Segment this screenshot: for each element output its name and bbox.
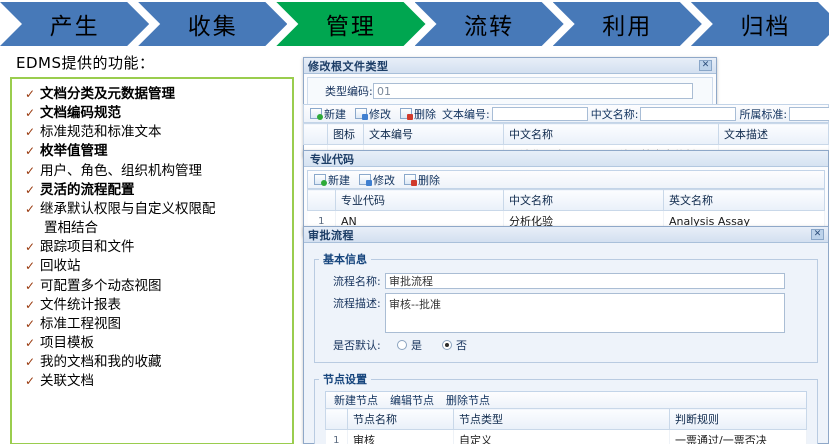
feature-item: ✓ 回收站	[16, 257, 288, 276]
col-text-no[interactable]: 文本编号	[364, 124, 504, 145]
feature-item: ✓ 标准工程视图	[16, 315, 288, 334]
process-desc-textarea[interactable]: 审核--批准	[385, 293, 785, 333]
feature-label: 文档分类及元数据管理	[40, 85, 288, 104]
feature-item: ✓ 跟踪项目和文件	[16, 238, 288, 257]
check-icon: ✓	[20, 257, 40, 276]
new-button-label: 新建	[328, 172, 350, 188]
new-node-button[interactable]: 新建节点	[334, 392, 378, 408]
edit-button-label: 修改	[373, 172, 395, 188]
feature-label: 我的文档和我的收藏	[40, 353, 288, 372]
radio-no[interactable]: 否	[442, 337, 467, 353]
edms-features-title: EDMS提供的功能：	[10, 52, 298, 73]
process-desc-row: 流程描述: 审核--批准	[319, 293, 813, 333]
major-code-header: 专业代码	[304, 151, 828, 167]
chevron-step-4-label: 流转	[464, 7, 514, 41]
process-chevron-bar: 产生 收集 管理 流转 利用 归档	[0, 2, 829, 46]
edms-feature-list: ✓ 文档分类及元数据管理 ✓ 文档编码规范 ✓ 标准规范和标准文本 ✓ 枚举值管…	[10, 77, 294, 444]
check-icon: ✓	[20, 142, 40, 161]
type-code-input[interactable]: 01	[373, 83, 693, 99]
row-number: 1	[326, 430, 348, 444]
feature-item: ✓ 标准规范和标准文本	[16, 123, 288, 142]
chevron-step-1-label: 产生	[50, 7, 100, 41]
cn-name-label: 中文名称:	[591, 106, 639, 122]
new-button[interactable]: 新建	[311, 172, 353, 188]
radio-no-label: 否	[456, 337, 467, 353]
col-rownum	[326, 409, 348, 430]
type-code-row: 类型编码: 01	[311, 83, 709, 99]
new-icon	[314, 174, 326, 185]
basic-info-legend: 基本信息	[319, 251, 371, 267]
feature-item: ✓ 用户、角色、组织机构管理	[16, 162, 288, 181]
col-node-rule[interactable]: 判断规则	[670, 409, 807, 430]
feature-label: 项目模板	[40, 334, 288, 353]
type-code-label: 类型编码:	[311, 83, 373, 99]
text-no-input[interactable]	[492, 107, 588, 121]
feature-item: ✓ 项目模板	[16, 334, 288, 353]
panel-major-code: 专业代码 新建 修改 删除	[303, 150, 829, 236]
basic-info-group: 基本信息 流程名称: 审批流程 流程描述: 审核--批准 是否默认: 是	[314, 251, 818, 363]
radio-yes-icon[interactable]	[397, 340, 407, 350]
chevron-step-5-label: 利用	[602, 7, 652, 41]
check-icon: ✓	[20, 104, 40, 123]
edit-icon	[355, 108, 367, 119]
chevron-step-2[interactable]: 收集	[138, 2, 287, 46]
check-icon: ✓	[20, 372, 40, 391]
close-icon[interactable]: ✕	[811, 229, 824, 240]
col-node-name[interactable]: 节点名称	[348, 409, 454, 430]
check-icon: ✓	[20, 353, 40, 372]
dialog-file-type-titlebar[interactable]: 修改根文件类型 ✕	[304, 58, 716, 74]
is-default-label: 是否默认:	[319, 337, 385, 353]
edit-button[interactable]: 修改	[356, 172, 398, 188]
dialog-file-type-body: 类型编码: 01	[304, 74, 716, 108]
cn-name-field: 中文名称:	[591, 106, 737, 122]
delete-icon	[400, 108, 412, 119]
feature-label: 跟踪项目和文件	[40, 238, 288, 257]
major-code-body: 新建 修改 删除 专业代码 中文名称 英文名称	[304, 167, 828, 235]
major-code-grid-header: 专业代码 中文名称 英文名称	[308, 190, 825, 211]
feature-label: 文件统计报表	[40, 296, 288, 315]
edit-node-button[interactable]: 编辑节点	[390, 392, 434, 408]
edit-button[interactable]: 修改	[352, 106, 394, 122]
process-name-row: 流程名称: 审批流程	[319, 273, 813, 289]
delete-node-button[interactable]: 删除节点	[446, 392, 490, 408]
feature-label: 标准工程视图	[40, 315, 288, 334]
delete-button-label: 删除	[414, 106, 436, 122]
is-default-row: 是否默认: 是 否	[319, 337, 813, 353]
radio-yes[interactable]: 是	[397, 337, 422, 353]
col-code[interactable]: 专业代码	[336, 190, 504, 211]
delete-icon	[404, 174, 416, 185]
dialog-file-type-title: 修改根文件类型	[308, 58, 699, 74]
chevron-step-6-label: 归档	[740, 7, 790, 41]
chevron-step-2-label: 收集	[188, 7, 238, 41]
major-code-title: 专业代码	[310, 151, 354, 167]
check-icon: ✓	[20, 315, 40, 334]
col-icon[interactable]: 图标	[328, 124, 364, 145]
close-icon[interactable]: ✕	[699, 60, 712, 71]
col-rownum	[304, 124, 328, 145]
col-rownum	[308, 190, 336, 211]
new-icon	[310, 108, 322, 119]
col-node-type[interactable]: 节点类型	[454, 409, 670, 430]
feature-label: 可配置多个动态视图	[40, 277, 288, 296]
dialog-approval-title: 审批流程	[308, 227, 811, 243]
file-type-grid-header: 图标 文本编号 中文名称 文本描述	[304, 124, 829, 145]
type-code-panel: 类型编码: 01	[307, 77, 713, 105]
edit-icon	[359, 174, 371, 185]
feature-label: 文档编码规范	[40, 104, 288, 123]
feature-label: 灵活的流程配置	[40, 181, 288, 200]
new-button[interactable]: 新建	[307, 106, 349, 122]
standard-field: 所属标准:	[739, 106, 829, 122]
col-cn-name[interactable]: 中文名称	[504, 190, 664, 211]
cell-node-name: 审核	[348, 430, 454, 444]
check-icon: ✓	[20, 334, 40, 353]
check-icon: ✓	[20, 238, 40, 257]
feature-item: ✓ 文档分类及元数据管理	[16, 85, 288, 104]
feature-item: ✓ 关联文档	[16, 372, 288, 391]
dialog-approval-process: 审批流程 ✕ 基本信息 流程名称: 审批流程 流程描述: 审核--批准 是否默认…	[303, 226, 829, 444]
node-settings-group: 节点设置 新建节点 编辑节点 删除节点 节点名称 节点类型	[314, 371, 818, 444]
standard-label: 所属标准:	[739, 106, 787, 122]
dialog-approval-titlebar[interactable]: 审批流程 ✕	[304, 227, 828, 243]
delete-button-label: 删除	[418, 172, 440, 188]
delete-button[interactable]: 删除	[397, 106, 439, 122]
table-row[interactable]: 1 审核 自定义 一票通过/一票否决	[326, 430, 807, 444]
dialog-approval-body: 基本信息 流程名称: 审批流程 流程描述: 审核--批准 是否默认: 是	[304, 243, 828, 443]
radio-no-icon[interactable]	[442, 340, 452, 350]
standard-input[interactable]	[789, 107, 829, 121]
text-no-field: 文本编号:	[442, 106, 588, 122]
node-settings-grid: 节点名称 节点类型 判断规则 1 审核 自定义 一票通过/一票否决	[325, 408, 807, 444]
col-cn-name[interactable]: 中文名称	[504, 124, 719, 145]
feature-label: 枚举值管理	[40, 142, 288, 161]
feature-item: ✓ 枚举值管理	[16, 142, 288, 161]
check-icon: ✓	[20, 123, 40, 142]
cell-node-type: 自定义	[454, 430, 670, 444]
node-toolbar: 新建节点 编辑节点 删除节点	[325, 391, 807, 408]
check-icon: ✓	[20, 296, 40, 315]
cell-node-rule: 一票通过/一票否决	[670, 430, 807, 444]
col-desc[interactable]: 文本描述	[719, 124, 829, 145]
cn-name-input[interactable]	[640, 107, 736, 121]
major-code-toolbar: 新建 修改 删除	[307, 170, 825, 189]
feature-label: 标准规范和标准文本	[40, 123, 288, 142]
check-icon: ✓	[20, 162, 40, 181]
feature-label: 关联文档	[40, 372, 288, 391]
feature-label-continuation: 置相结合	[16, 219, 288, 238]
process-name-label: 流程名称:	[319, 273, 385, 289]
delete-button[interactable]: 删除	[401, 172, 443, 188]
feature-item: ✓ 文件统计报表	[16, 296, 288, 315]
node-settings-content: 新建节点 编辑节点 删除节点 节点名称 节点类型 判断规则	[325, 391, 807, 444]
radio-yes-label: 是	[411, 337, 422, 353]
feature-label: 回收站	[40, 257, 288, 276]
new-button-label: 新建	[324, 106, 346, 122]
feature-item: ✓ 灵活的流程配置	[16, 181, 288, 200]
check-icon: ✓	[20, 181, 40, 200]
process-desc-label: 流程描述:	[319, 293, 385, 311]
chevron-step-3-label: 管理	[326, 7, 376, 41]
check-icon: ✓	[20, 200, 40, 219]
node-settings-legend: 节点设置	[319, 371, 371, 387]
check-icon: ✓	[20, 85, 40, 104]
chevron-step-6[interactable]: 归档	[691, 2, 829, 46]
col-en-name[interactable]: 英文名称	[664, 190, 825, 211]
chevron-step-5[interactable]: 利用	[553, 2, 702, 46]
feature-item: ✓ 我的文档和我的收藏	[16, 353, 288, 372]
feature-item: ✓ 可配置多个动态视图	[16, 277, 288, 296]
feature-item: ✓ 继承默认权限与自定义权限配	[16, 200, 288, 219]
feature-label: 用户、角色、组织机构管理	[40, 162, 288, 181]
file-type-toolbar: 新建 修改 删除 文本编号: 中文名称: 所属标准:	[303, 104, 829, 123]
feature-label: 继承默认权限与自定义权限配	[40, 200, 288, 219]
screenshot-root: 产生 收集 管理 流转 利用 归档 EDMS提供的功能： ✓ 文档分类及元数据管…	[0, 0, 829, 444]
edit-button-label: 修改	[369, 106, 391, 122]
left-feature-column: EDMS提供的功能： ✓ 文档分类及元数据管理 ✓ 文档编码规范 ✓ 标准规范和…	[10, 52, 298, 444]
node-grid-header: 节点名称 节点类型 判断规则	[326, 409, 807, 430]
feature-item: ✓ 文档编码规范	[16, 104, 288, 123]
chevron-step-3[interactable]: 管理	[276, 2, 425, 46]
chevron-step-1[interactable]: 产生	[0, 2, 149, 46]
text-no-label: 文本编号:	[442, 106, 490, 122]
chevron-step-4[interactable]: 流转	[415, 2, 564, 46]
check-icon: ✓	[20, 277, 40, 296]
process-name-input[interactable]: 审批流程	[385, 273, 785, 289]
